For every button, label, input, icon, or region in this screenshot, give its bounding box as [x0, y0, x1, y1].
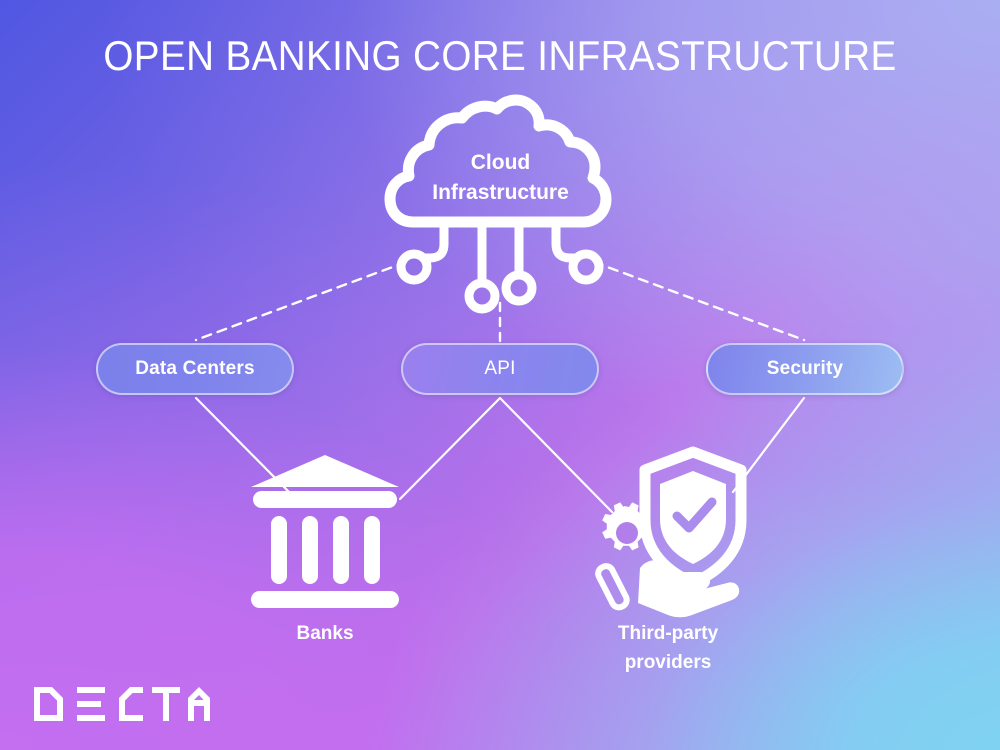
bank-column — [302, 516, 318, 584]
bank-column — [333, 516, 349, 584]
decta-logo-letter-c — [119, 687, 143, 721]
cloud-node-left-inner — [469, 283, 495, 309]
connector-api-to-banks — [400, 398, 500, 499]
bank-base-bar — [251, 591, 399, 608]
connector-data-centers-to-banks — [196, 398, 289, 492]
gear-icon — [602, 502, 650, 550]
connector-cloud-to-data-centers — [196, 262, 406, 340]
pen-card-icon — [596, 564, 629, 610]
shield-check-mark — [677, 502, 712, 528]
page-title: OPEN BANKING CORE INFRASTRUCTURE — [40, 32, 960, 80]
cloud-label-line2: Infrastructure — [398, 178, 603, 208]
third-party-providers-label: Third-party providers — [568, 620, 768, 677]
cloud-trace-left-outer — [425, 222, 444, 258]
bank-architrave-bar — [253, 491, 397, 508]
cloud-node-left-outer — [401, 254, 427, 280]
bank-column — [364, 516, 380, 584]
decta-logo-letter-d — [34, 687, 63, 721]
connector-cloud-to-security — [594, 262, 804, 340]
cloud-node-right-outer — [573, 254, 599, 280]
shield-outline — [645, 452, 741, 583]
decta-logo-letter-e — [77, 687, 105, 721]
pill-security[interactable]: Security — [706, 343, 904, 395]
pill-api-label: API — [484, 358, 515, 380]
decta-logo-letter-t — [152, 687, 180, 721]
bank-column — [271, 516, 287, 584]
pill-api[interactable]: API — [401, 343, 599, 395]
shield-inner-fill — [660, 471, 726, 564]
cloud-trace-right-outer — [556, 222, 575, 258]
pill-data-centers[interactable]: Data Centers — [96, 343, 294, 395]
cloud-label: Cloud Infrastructure — [398, 148, 603, 208]
banks-label-text: Banks — [296, 623, 353, 644]
pill-security-label: Security — [767, 358, 844, 380]
decta-logo: DECTA — [30, 684, 210, 724]
connector-api-to-third-party-providers — [500, 398, 612, 512]
banks-label: Banks — [225, 620, 425, 649]
decta-logo-letter-a — [188, 687, 210, 721]
connector-security-to-third-party-providers — [733, 398, 804, 492]
bank-roof-pediment — [251, 455, 399, 487]
third-party-providers-label-line2: providers — [568, 649, 768, 678]
pill-data-centers-label: Data Centers — [135, 358, 255, 380]
third-party-providers-label-line1: Third-party — [568, 620, 768, 649]
infographic-canvas: OPEN BANKING CORE INFRASTRUCTURE — [0, 0, 1000, 750]
cloud-node-right-inner — [506, 275, 532, 301]
cloud-label-line1: Cloud — [398, 148, 603, 178]
hand-icon — [638, 560, 739, 617]
